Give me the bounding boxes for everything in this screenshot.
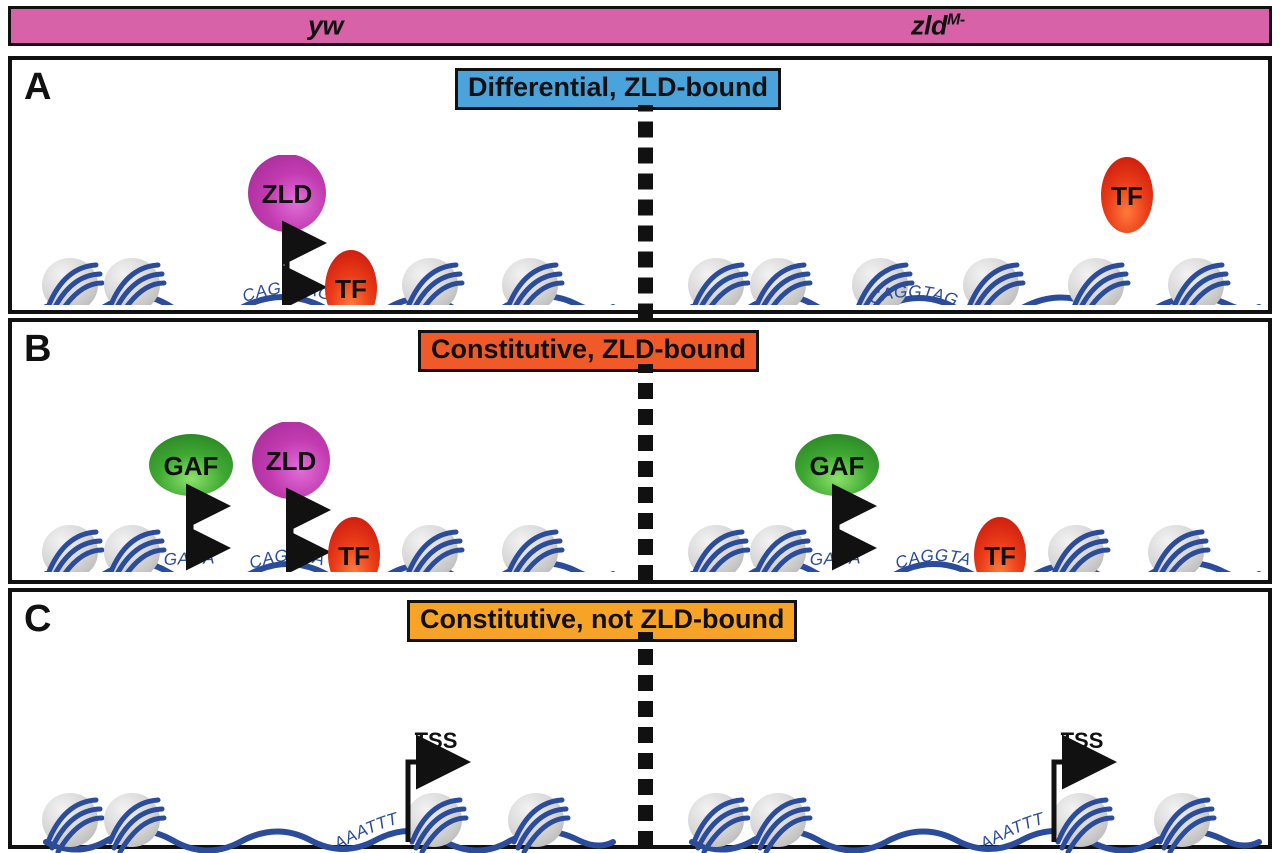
panel-a-right-scene: CAGGTAG TF [684, 155, 1264, 305]
tss-label: TSS [1061, 728, 1104, 753]
nucleosome [963, 258, 1023, 305]
nucleosome [1068, 258, 1128, 305]
protein-tf-label: TF [1111, 181, 1143, 211]
protein-gaf: GAF [795, 434, 879, 496]
protein-gaf-label: GAF [164, 451, 219, 481]
protein-tf: TF [974, 517, 1026, 572]
nucleosome [1154, 793, 1214, 852]
nucleosome [1052, 793, 1112, 852]
panel-b-genotype-divider [638, 364, 653, 584]
panel-b-left-scene: GAGA CAGGTAG GAF ZLD [38, 422, 618, 572]
protein-tf-label: TF [984, 541, 1016, 571]
genotype-label-zld-superscript: M- [947, 12, 965, 29]
protein-tf: TF [328, 517, 380, 572]
nucleosome [750, 793, 810, 852]
genotype-label-yw: yw [308, 11, 343, 42]
nucleosome [1148, 525, 1208, 572]
motif-label-gaga: GAGA [810, 548, 862, 569]
nucleosome [402, 525, 462, 572]
nucleosome [688, 525, 748, 572]
protein-tf-label: TF [335, 274, 367, 304]
nucleosome [750, 525, 810, 572]
protein-zld-label: ZLD [262, 179, 313, 209]
genotype-label-zld-base: zld [911, 11, 947, 41]
panel-c-right-scene: AAATTT TSS [684, 710, 1264, 853]
panel-a-banner: Differential, ZLD-bound [455, 68, 781, 110]
motif-label-gaga: GAGA [164, 548, 216, 569]
protein-tf-label: TF [338, 541, 370, 571]
nucleosome [1168, 258, 1228, 305]
nucleosome [688, 258, 748, 305]
nucleosome [402, 258, 462, 305]
genotype-header-bar: yw zldM- [8, 6, 1272, 46]
panel-a: A Differential, ZLD-bound [8, 56, 1272, 314]
panel-b-letter: B [24, 330, 51, 368]
figure-root: yw zldM- A Differential, ZLD-bound [0, 0, 1280, 853]
nucleosome [502, 258, 562, 305]
nucleosome [750, 258, 810, 305]
panel-c-left-scene: AAATTT TSS [38, 710, 618, 853]
genotype-label-zld-maternal: zldM- [911, 11, 965, 42]
panel-c-letter: C [24, 600, 51, 638]
protein-gaf-label: GAF [810, 451, 865, 481]
panel-c-banner: Constitutive, not ZLD-bound [407, 600, 797, 642]
nucleosome [104, 258, 164, 305]
panel-a-letter: A [24, 68, 51, 106]
protein-zld-label: ZLD [266, 446, 317, 476]
protein-zld: ZLD [248, 155, 326, 232]
nucleosome [502, 525, 562, 572]
nucleosome [508, 793, 568, 852]
nucleosome [104, 793, 164, 852]
panel-b: B Constitutive, ZLD-bound [8, 318, 1272, 584]
nucleosome [42, 525, 102, 572]
panel-c-genotype-divider [638, 632, 653, 848]
panel-c: C Constitutive, not ZLD-bound [8, 588, 1272, 849]
panel-a-genotype-divider [638, 105, 653, 320]
protein-tf: TF [325, 250, 377, 305]
nucleosome [104, 525, 164, 572]
protein-tf: TF [1101, 157, 1153, 233]
nucleosome [1048, 525, 1108, 572]
panel-b-right-scene: GAGA CAGGTAG GAF TF [684, 422, 1264, 572]
nucleosome [406, 793, 466, 852]
panel-b-banner: Constitutive, ZLD-bound [418, 330, 759, 372]
protein-zld: ZLD [252, 422, 330, 499]
protein-gaf: GAF [149, 434, 233, 496]
tss-label: TSS [415, 728, 458, 753]
panel-a-left-scene: CAGGTAG ZLD TF [38, 155, 618, 305]
nucleosome [42, 258, 102, 305]
